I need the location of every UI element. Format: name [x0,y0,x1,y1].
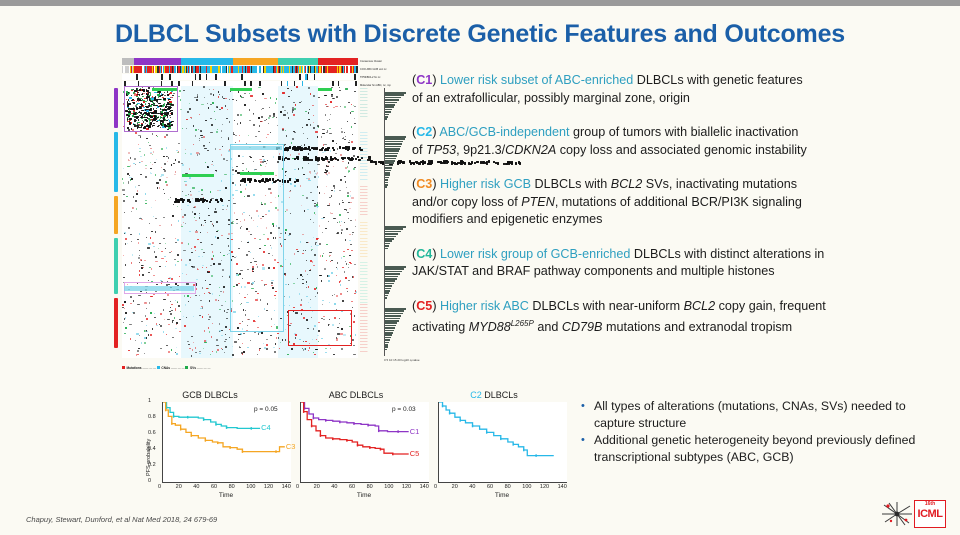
highlight-box [288,310,352,346]
alteration-cell [135,200,137,202]
alteration-cell [341,128,342,129]
coo-segment [122,66,134,73]
alteration-cell [344,222,346,223]
cluster-segment-c5 [318,58,358,65]
alteration-cell [322,129,324,130]
x-tick-label: 60 [487,484,493,490]
icml-wordmark: 16th ICML [914,500,946,528]
alteration-cell [218,91,219,93]
alteration-cell [222,276,224,277]
alteration-cell [216,106,218,107]
alteration-cell [300,274,302,275]
significance-bar [385,153,398,155]
x-tick-label: 120 [264,484,273,490]
gene-label: ——— [360,116,368,119]
alteration-cell [138,242,139,244]
alteration-cell [272,117,273,119]
significance-bar [385,150,399,152]
alteration-cell [253,124,255,126]
alteration-cell [349,234,350,236]
alteration-cell [135,186,137,188]
alteration-cell [203,86,205,88]
alteration-cell [177,254,179,256]
significance-bar [385,342,389,344]
alteration-cell [128,181,129,183]
alteration-cell [138,144,139,145]
alteration-cell [350,220,352,221]
highlight-box [230,144,284,332]
alteration-cell [319,275,321,276]
alteration-cell [310,260,312,262]
alteration-cell [342,300,344,301]
alteration-cell [155,218,157,219]
alteration-cell [290,213,291,214]
alteration-cell [171,310,172,312]
cluster-segment-c2 [181,58,233,65]
coo-segment [134,66,181,73]
description-line: modifiers and epigenetic enzymes [412,211,912,229]
alteration-cell [325,348,327,349]
alteration-cell [239,140,240,141]
description-line: JAK/STAT and BRAF pathway components and… [412,263,912,281]
alteration-cell [344,106,345,108]
alteration-cell [146,237,147,238]
highlight-band [124,286,194,291]
censor-mark [472,425,473,428]
significance-bar [385,226,406,228]
alteration-cell [269,107,271,108]
alteration-cell [195,250,197,251]
significance-bar [385,138,405,140]
alteration-cell [158,248,159,249]
significance-bar [385,179,388,181]
significance-bar [385,283,394,285]
alteration-cell [218,263,220,265]
significance-bar [385,184,388,186]
legend-swatch [122,366,125,369]
alteration-cell [268,123,270,124]
alteration-cell [160,176,162,177]
alteration-cell [122,189,124,190]
alteration-cell [325,104,327,105]
alteration-cell [137,190,138,192]
alteration-cell [331,213,332,215]
alteration-cell [155,256,156,258]
text-segment: Lower risk group of GCB-enriched [440,247,630,261]
cluster-description-c5: (C5) Higher risk ABC DLBCLs with near-un… [412,298,912,337]
censor-mark [180,428,181,431]
text-segment: and/or copy loss of [412,195,521,209]
significance-bar [385,313,403,315]
alteration-cell [166,334,167,335]
alteration-cell [511,162,513,164]
alteration-cell [134,158,136,160]
alteration-cell [259,349,260,350]
alteration-cell [340,179,342,181]
alteration-cell [327,174,329,175]
alteration-cell [175,171,176,173]
y-tick-label: 1 [148,398,151,404]
alteration-cell [152,154,153,155]
alteration-cell [149,145,151,147]
x-axis-label: Time [162,492,290,499]
x-tick-label: 20 [176,484,182,490]
alteration-cell [355,334,356,336]
alteration-cell [201,189,203,191]
alteration-cell [306,260,307,262]
significance-bar [385,143,402,145]
alteration-cell [210,221,211,222]
significance-bar [385,238,394,240]
alteration-cell [206,288,208,289]
alteration-cell [185,184,187,186]
alteration-cell [123,182,124,184]
alteration-cell [339,214,341,216]
alteration-cell [331,195,332,197]
alteration-cell [262,93,264,95]
alteration-cell [164,136,166,138]
censor-mark [442,405,443,408]
alteration-cell [325,156,327,158]
alteration-cell [210,199,212,201]
alteration-cell [212,251,213,253]
alteration-cell [347,212,349,213]
heatmap-annotation-bars: Consensus ClusterCOO ABC GCB unc ncTP53/… [122,58,358,84]
alteration-cell [189,231,191,232]
alteration-cell [185,181,186,182]
text-segment: MYD88 [469,320,511,334]
alteration-cell [166,177,168,178]
alteration-cell [253,113,254,115]
text-segment: C1 [416,73,432,87]
alteration-cell [311,147,313,149]
alteration-cell [291,348,293,350]
alteration-cell [349,240,351,241]
alteration-cell [178,220,179,222]
icml-logo: 16th ICML [880,500,946,528]
survival-panel-1: GCB DLBCLsp = 0.0500.20.40.60.81PFS prob… [140,390,280,508]
highlight-band [230,146,282,150]
text-segment: of [412,143,426,157]
alteration-cell [178,305,180,307]
alteration-cell [350,244,352,245]
alteration-cell [318,97,320,98]
alteration-cell [186,274,187,275]
alteration-cell [348,218,349,220]
alteration-cell [140,174,142,176]
alteration-cell [328,275,330,277]
alteration-cell [182,199,184,201]
cluster-segment-c3 [233,58,278,65]
alteration-cell [333,166,334,167]
alteration-cell [346,209,347,210]
heatmap-body: ————————————————————————————————————————… [108,86,408,358]
alteration-cell [156,159,158,160]
censor-mark [353,422,354,425]
alteration-cell [321,280,322,282]
alteration-cell [336,275,337,276]
legend-label: CNAs [161,366,170,370]
alteration-cell [122,178,123,180]
citation: Chapuy, Stewart, Dunford, et al Nat Med … [26,515,217,524]
significance-bar [385,320,399,322]
alteration-cell [342,161,344,162]
censor-mark [320,434,321,437]
alteration-cell [150,162,151,163]
alteration-cell [340,284,342,286]
alteration-cell [347,121,348,122]
alteration-cell [173,163,174,164]
censor-mark [251,427,252,430]
significance-bar [385,165,393,167]
alteration-cell [285,329,286,330]
significance-bar [385,141,403,143]
alteration-cell [225,326,226,328]
alteration-cell [305,111,307,112]
alteration-cell [353,354,355,355]
alteration-cell [313,127,315,129]
alteration-cell [194,213,196,215]
censor-mark [275,450,276,453]
alteration-cell [349,171,350,172]
alteration-cell [159,187,160,189]
alteration-cell [144,260,145,261]
alteration-cell [187,295,189,297]
alteration-cell [198,191,200,192]
alteration-cell [142,274,144,276]
alteration-cell [225,346,227,348]
significance-bar [385,271,402,273]
censor-mark [173,415,174,418]
alteration-cell [343,256,344,258]
x-tick-label: 40 [469,484,475,490]
significance-bar [385,155,397,157]
alteration-cell [196,279,198,280]
censor-mark [303,410,304,413]
km-plot-area [300,402,429,483]
significance-bar [385,297,387,299]
censor-mark [367,424,368,427]
alteration-cell [203,145,205,147]
alteration-cell [258,333,259,335]
alteration-cell [329,128,331,129]
p-value-label: p = 0.03 [392,406,416,413]
y-axis-label: PFS probability [146,439,152,476]
alteration-cell [323,253,324,254]
alteration-cell [302,279,304,280]
alteration-cell [141,161,143,162]
censor-mark [378,430,379,433]
text-segment: Higher risk ABC [440,299,529,313]
alteration-cell [221,137,222,138]
alteration-cell [146,331,148,332]
alteration-cell [212,224,213,225]
alteration-cell [314,176,316,177]
alteration-cell [266,339,268,341]
alteration-cell [200,232,201,234]
alteration-cell [139,262,140,263]
alteration-cell [160,348,162,349]
alteration-cell [250,340,251,341]
alteration-cell [234,341,236,343]
alteration-cell [209,331,210,332]
alteration-cell [129,175,130,176]
significance-bar [385,325,396,327]
alteration-cell [343,251,345,253]
alteration-cell [319,192,320,194]
survival-panel-3: C2 DLBCLs020406080100120140Time [428,390,560,508]
alteration-cell [341,221,342,222]
alteration-cell [343,137,345,138]
alteration-cell [326,132,328,133]
censor-mark [357,444,358,447]
alteration-cell [232,354,234,356]
significance-bar [385,273,400,275]
x-tick-label: 0 [158,484,161,490]
significance-bar [385,118,387,120]
alteration-cell [144,302,146,304]
significance-bar [385,94,404,96]
censor-mark [171,422,172,425]
censor-mark [229,446,230,449]
alteration-cell [282,106,284,108]
alteration-cell [301,149,303,151]
alteration-cell [337,262,338,264]
alteration-cell [308,87,310,89]
censor-mark [346,439,347,442]
x-tick-label: 100 [384,484,393,490]
alteration-cell [286,135,287,137]
alteration-cell [145,168,147,169]
alteration-cell [195,347,196,349]
alteration-cell [175,328,177,329]
alteration-cell [216,131,218,133]
alteration-cell [171,251,172,252]
alteration-cell [177,206,178,207]
alteration-cell [175,238,176,239]
text-segment: C5 [416,299,432,313]
alteration-cell [177,239,178,240]
alteration-cell [229,121,230,123]
significance-bar [385,167,392,169]
alteration-cell [429,162,431,164]
alteration-cell [309,149,311,151]
alteration-cell [326,260,327,261]
alteration-cell [249,109,250,110]
alteration-cell [141,219,143,220]
alteration-cell [196,99,198,100]
alteration-cell [125,238,126,240]
significance-bar [385,106,394,108]
alteration-cell [353,168,355,169]
alteration-cell [138,257,140,258]
alteration-cell [137,354,139,355]
alteration-cell [284,110,286,111]
alteration-cell [354,147,356,149]
alteration-cell [220,291,222,292]
censor-mark [535,454,536,457]
alteration-cell [264,98,266,99]
alteration-cell [204,148,206,149]
alteration-cell [123,168,124,169]
significance-bar-plot [384,88,407,356]
alteration-cell [141,321,143,322]
alteration-cell [242,343,243,344]
significance-bar [385,170,391,172]
alteration-cell [145,176,147,178]
alteration-cell [164,319,165,320]
alteration-cell [226,160,228,161]
alteration-cell [127,243,128,244]
alteration-cell [327,148,329,150]
alteration-cell [350,112,351,114]
alteration-cell [346,263,347,265]
alteration-cell [137,239,139,240]
alteration-cell [294,148,296,150]
alteration-cell [354,315,355,317]
alteration-cell [163,238,165,239]
alteration-cell [126,196,128,198]
page-title: DLBCL Subsets with Discrete Genetic Feat… [0,20,960,49]
alteration-cell [123,322,124,323]
alteration-cell [146,325,147,326]
alteration-cell [336,233,338,235]
alteration-cell [515,162,517,164]
alteration-cell [166,147,167,149]
alteration-cell [168,199,169,200]
alteration-cell [222,349,224,350]
alteration-cell [148,280,150,281]
text-segment: C3 [416,177,432,191]
alteration-cell [159,179,161,181]
alteration-cell [171,224,172,226]
significance-bar [385,245,389,247]
alteration-cell [273,113,275,115]
text-segment: DLBCLs with near-uniform [529,299,684,313]
alteration-cell [183,90,185,91]
text-segment: and [534,320,562,334]
alteration-cell [349,208,351,209]
alteration-cell [344,132,345,134]
alteration-cell [262,108,263,109]
alteration-cell [170,197,171,198]
alteration-cell [324,144,326,146]
alteration-cell [168,324,170,325]
alteration-cell [317,164,319,165]
alteration-cell [189,108,190,110]
significance-bar [385,111,391,113]
censor-mark [187,416,188,419]
alteration-cell [160,325,162,327]
alteration-cell [180,99,181,101]
alteration-cell [202,265,204,266]
alteration-cell [164,256,166,257]
alteration-cell [189,103,190,104]
alteration-cell [149,302,150,303]
x-tick-label: 80 [229,484,235,490]
alteration-cell [152,164,153,165]
alteration-cell [144,353,146,354]
censor-mark [380,448,381,451]
alteration-cell [280,111,282,113]
alteration-cell [334,303,335,305]
alteration-cell [319,225,320,227]
significance-bar [385,158,396,160]
alteration-cell [322,255,323,256]
alteration-cell [130,165,131,167]
alteration-cell [315,148,317,150]
coo-annotation-bar [122,66,358,73]
